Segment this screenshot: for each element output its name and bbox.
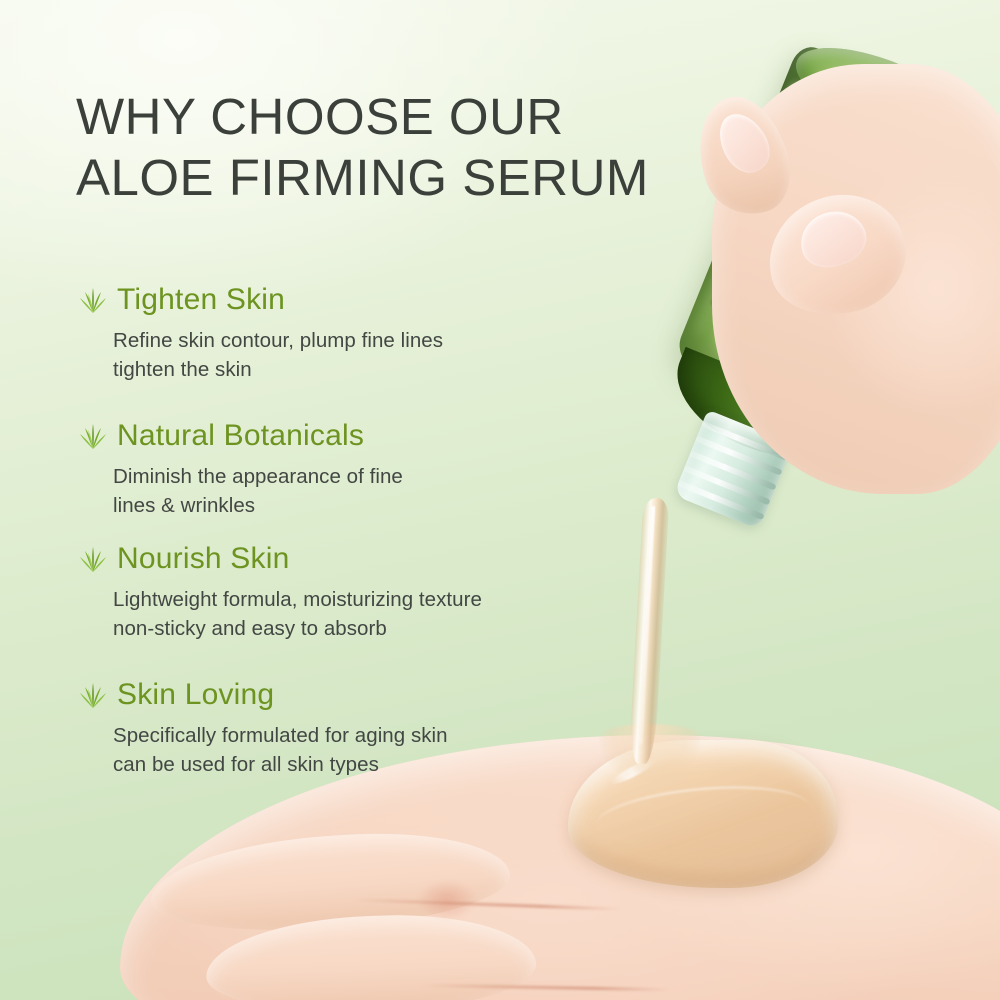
- bottle-thread: [677, 480, 765, 520]
- feature-description: Refine skin contour, plump fine lines ti…: [113, 326, 598, 384]
- bottle-thread: [701, 421, 789, 461]
- aloe-sprout-icon: [78, 285, 108, 315]
- bottle-base-inner: [817, 55, 948, 142]
- middle-finger: [204, 910, 537, 1000]
- feature-item-tighten-skin: Tighten Skin Refine skin contour, plump …: [78, 281, 598, 384]
- aloe-leaf-artwork: [781, 136, 860, 229]
- serum-puddle-edge: [594, 779, 812, 853]
- serum-stream: [629, 498, 670, 764]
- bottle-shoulder: [660, 347, 853, 479]
- index-finger: [147, 824, 513, 941]
- bottle-bubbles: [692, 224, 808, 347]
- bottle-neck: [673, 410, 793, 530]
- feature-title: Tighten Skin: [117, 283, 285, 317]
- feature-title: Skin Loving: [117, 678, 274, 712]
- finger-crease: [352, 898, 622, 910]
- knuckle-shading: [418, 880, 476, 920]
- bottle-base: [784, 28, 985, 163]
- serum-stream-flare: [600, 724, 700, 780]
- feature-heading-row: Nourish Skin: [78, 540, 598, 578]
- feature-title: Nourish Skin: [117, 542, 289, 576]
- feature-heading-row: Skin Loving: [78, 676, 598, 714]
- feature-heading-row: Tighten Skin: [78, 281, 598, 319]
- bottle-product-line: Aloe Firming Serum: [735, 274, 885, 356]
- feature-heading-row: Natural Botanicals: [78, 417, 598, 455]
- bottle-brand-name: ALODERMA: [713, 217, 899, 313]
- serum-puddle: [568, 740, 838, 888]
- thumbnail: [793, 203, 872, 275]
- feature-item-nourish-skin: Nourish Skin Lightweight formula, moistu…: [78, 540, 598, 643]
- feature-description: Specifically formulated for aging skin c…: [113, 721, 598, 779]
- feature-description: Lightweight formula, moisturizing textur…: [113, 585, 598, 643]
- page-title: WHY CHOOSE OUR ALOE FIRMING SERUM: [76, 86, 756, 208]
- thumb: [756, 181, 918, 329]
- aloe-sprout-icon: [78, 421, 108, 451]
- serum-stream-highlight: [639, 506, 655, 744]
- serum-puddle-highlight: [609, 754, 660, 787]
- feature-item-skin-loving: Skin Loving Specifically formulated for …: [78, 676, 598, 779]
- product-feature-poster: ALODERMA Aloe Firming Serum WHY CHOOSE O…: [0, 0, 1000, 1000]
- bottle-thread: [683, 465, 771, 505]
- feature-item-natural-botanicals: Natural Botanicals Diminish the appearan…: [78, 417, 598, 520]
- feature-title: Natural Botanicals: [117, 419, 364, 453]
- aloe-sprout-icon: [78, 680, 108, 710]
- bottle-thread: [689, 450, 777, 490]
- feature-description: Diminish the appearance of fine lines & …: [113, 462, 598, 520]
- aloe-sprout-icon: [78, 544, 108, 574]
- bottle-thread: [695, 436, 783, 476]
- finger-crease: [420, 984, 670, 991]
